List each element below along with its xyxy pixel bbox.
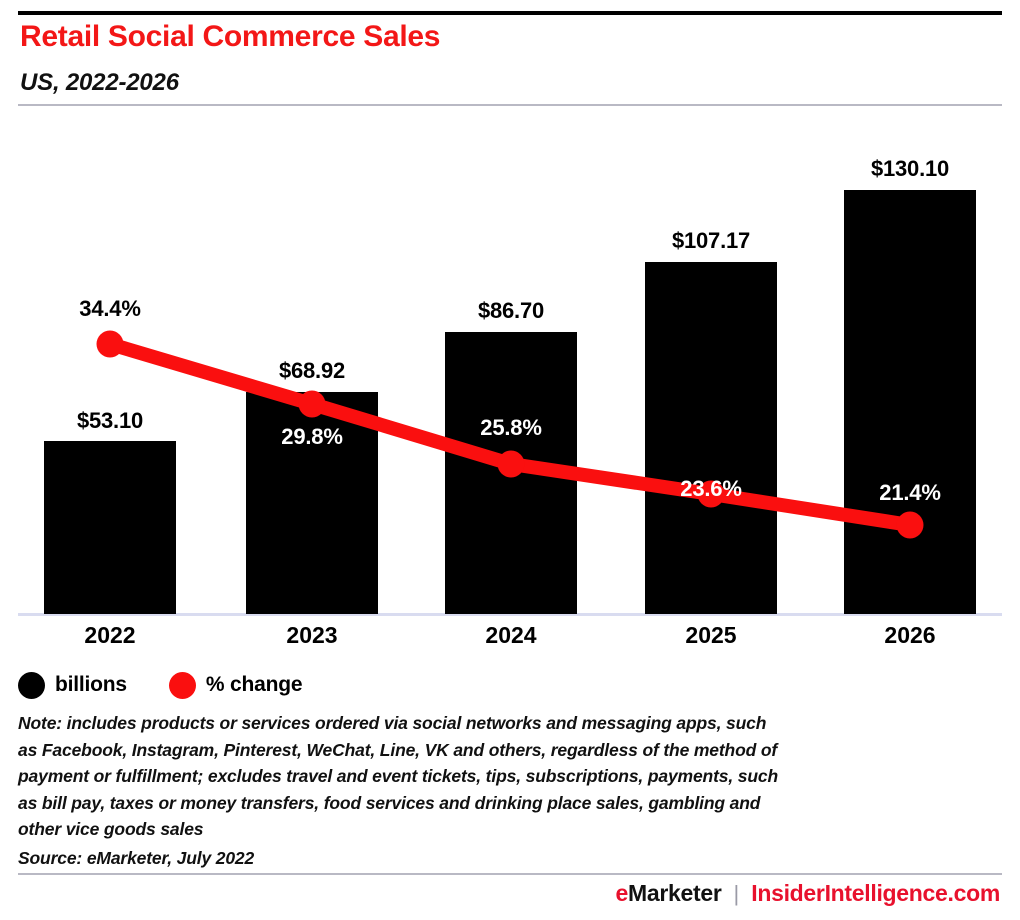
- chart-legend: billions% change: [18, 668, 302, 702]
- x-tick-2024: 2024: [421, 622, 601, 649]
- data-point-marker-2022: [97, 331, 124, 358]
- chart-page: Retail Social Commerce Sales US, 2022-20…: [0, 0, 1020, 920]
- data-point-marker-2023: [299, 391, 326, 418]
- source-text: Source: eMarketer, July 2022: [18, 845, 993, 872]
- footer-divider: [18, 873, 1002, 875]
- footer-separator: |: [734, 881, 740, 907]
- data-point-marker-2024: [498, 451, 525, 478]
- circle-marker-icon: [18, 672, 45, 699]
- note-line-4: as bill pay, taxes or money transfers, f…: [18, 790, 993, 817]
- note-line-5: other vice goods sales: [18, 816, 993, 843]
- percent-change-label-2023: 29.8%: [202, 424, 422, 450]
- legend-item-percent-change: % change: [169, 672, 302, 699]
- insider-intelligence-link[interactable]: InsiderIntelligence.com: [751, 880, 1000, 907]
- plot-area: 34.4%29.8%25.8%23.6%21.4% $53.10$68.92$8…: [0, 0, 1020, 660]
- percent-change-label-2022: 34.4%: [0, 296, 220, 322]
- x-tick-2022: 2022: [20, 622, 200, 649]
- emarketer-logo-rest: Marketer: [628, 880, 722, 906]
- footer-branding: eMarketer | InsiderIntelligence.com: [616, 880, 1000, 907]
- bar-value-label-2023: $68.92: [202, 358, 422, 384]
- percent-change-line-layer: [0, 0, 1020, 660]
- note-line-2: as Facebook, Instagram, Pinterest, WeCha…: [18, 737, 993, 764]
- legend-label: billions: [55, 673, 127, 697]
- note-text: Note: includes products or services orde…: [18, 710, 993, 843]
- emarketer-logo-e: e: [616, 880, 629, 906]
- x-tick-2026: 2026: [820, 622, 1000, 649]
- footnotes-block: Note: includes products or services orde…: [18, 710, 993, 871]
- percent-change-label-2024: 25.8%: [401, 415, 621, 441]
- percent-change-label-2026: 21.4%: [800, 480, 1020, 506]
- bar-value-label-2026: $130.10: [800, 156, 1020, 182]
- legend-item-billions: billions: [18, 672, 127, 699]
- bar-value-label-2025: $107.17: [601, 228, 821, 254]
- note-line-1: Note: includes products or services orde…: [18, 710, 993, 737]
- note-line-3: payment or fulfillment; excludes travel …: [18, 763, 993, 790]
- bar-value-label-2022: $53.10: [0, 408, 220, 434]
- emarketer-logo: eMarketer: [616, 880, 722, 907]
- legend-label: % change: [206, 673, 302, 697]
- data-point-marker-2026: [897, 512, 924, 539]
- circle-marker-icon: [169, 672, 196, 699]
- x-tick-2023: 2023: [222, 622, 402, 649]
- x-tick-2025: 2025: [621, 622, 801, 649]
- percent-change-label-2025: 23.6%: [601, 476, 821, 502]
- bar-value-label-2024: $86.70: [401, 298, 621, 324]
